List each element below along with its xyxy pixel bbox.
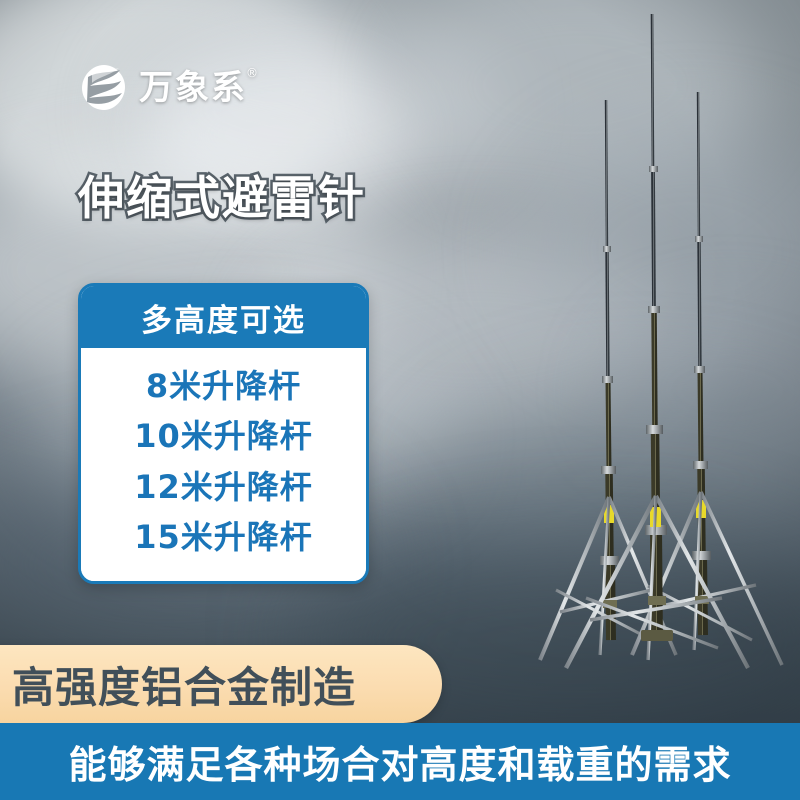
list-item: 15米升降杆: [134, 515, 313, 560]
material-banner: 高强度铝合金制造: [0, 645, 442, 723]
list-item: 8米升降杆: [146, 364, 301, 409]
material-banner-text: 高强度铝合金制造: [12, 654, 356, 715]
list-item: 12米升降杆: [134, 465, 313, 510]
list-item: 10米升降杆: [134, 414, 313, 459]
benefit-banner-text: 能够满足各种场合对高度和载重的需求: [68, 734, 731, 789]
height-options-card-title: 多高度可选: [141, 295, 306, 340]
product-poster: 万象系® 伸缩式避雷针 多高度可选 8米升降杆 10米升降杆 12米升降杆 15…: [0, 0, 800, 800]
page-title: 伸缩式避雷针: [78, 172, 366, 225]
benefit-banner: 能够满足各种场合对高度和载重的需求: [0, 723, 800, 800]
swirl-sphere-logo-icon: [78, 62, 130, 114]
mast-center: [566, 14, 748, 668]
height-options-card: 多高度可选 8米升降杆 10米升降杆 12米升降杆 15米升降杆: [78, 283, 369, 584]
height-options-card-header: 多高度可选: [81, 286, 366, 348]
brand-logo: 万象系®: [78, 62, 247, 114]
height-options-list: 8米升降杆 10米升降杆 12米升降杆 15米升降杆: [81, 348, 366, 581]
brand-name: 万象系®: [139, 71, 247, 105]
brand-name-text: 万象系: [139, 68, 247, 108]
registered-mark: ®: [246, 67, 260, 79]
